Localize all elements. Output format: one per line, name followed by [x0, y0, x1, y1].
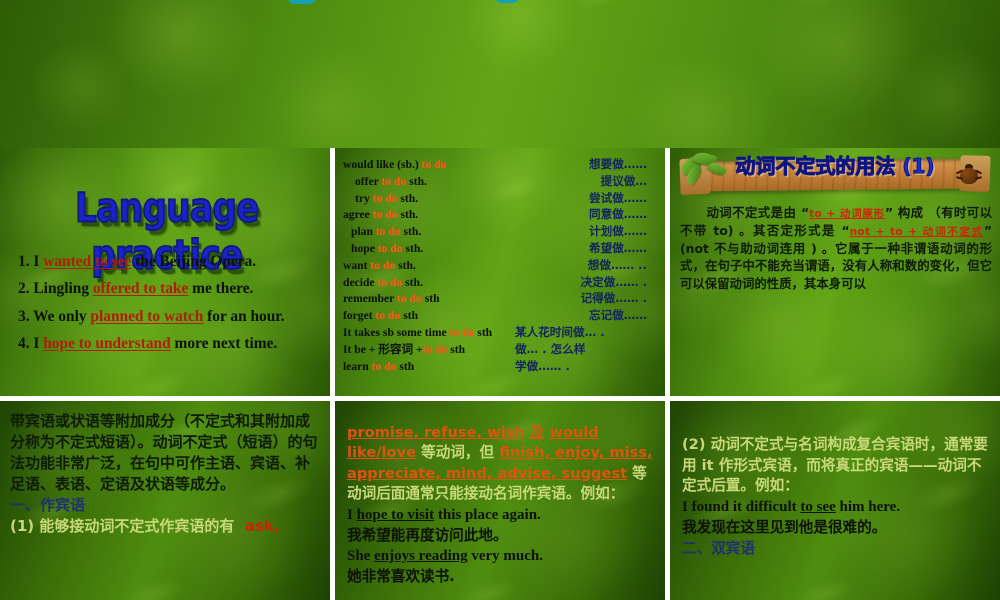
- example-1-before: I: [347, 507, 357, 523]
- pattern-infinitive: to do: [382, 175, 407, 188]
- example-1-after: this place again.: [434, 507, 541, 523]
- table-row: would like (sb.) to do想要做……: [343, 156, 659, 173]
- pattern-suffix: sth.: [403, 242, 424, 255]
- slide-formal-object-it[interactable]: (2) 动词不定式与名词构成复合宾语时，通常要用 it 作形式宾语，而将真正的宾…: [670, 401, 1000, 600]
- pattern-suffix: sth.: [402, 276, 423, 289]
- table-row: decide to do sth.决定做…… .: [343, 274, 659, 291]
- pattern-suffix: sth.: [395, 259, 416, 272]
- item-highlight: hope to understand: [43, 335, 170, 352]
- table-row: want to do sth.想做…… ..: [343, 257, 659, 274]
- verb-pattern-chinese: 计划做……: [523, 223, 659, 239]
- item-number: 3.: [18, 308, 30, 325]
- item-number: 4.: [18, 335, 30, 352]
- pattern-suffix: sth: [422, 292, 440, 305]
- pattern-infinitive: to do: [376, 309, 401, 322]
- slide-infinitive-vs-gerund[interactable]: promise, refuse, wish 及 would like/love …: [335, 401, 665, 600]
- table-row: It takes sb some time to do sth某人花时间做… .: [343, 324, 659, 341]
- slide-infinitive-definition[interactable]: 动词不定式的用法 (1) 动词不定式是由 “to + 动词原形” 构成 （有时可…: [670, 148, 1000, 396]
- example-2-before: She: [347, 548, 374, 564]
- table-row: agree to do sth.同意做……: [343, 206, 659, 223]
- pattern-prefix: try: [355, 192, 373, 205]
- verb-pattern-chinese: 某人花时间做… .: [515, 324, 659, 340]
- banner-background-leaves: [0, 0, 1000, 148]
- table-row: forget to do sth忘记做……: [343, 307, 659, 324]
- pattern-suffix: sth.: [406, 175, 427, 188]
- slide-language-practice[interactable]: Language practice 1. I wanted to see the…: [0, 148, 330, 396]
- verb-pattern-chinese: 学做…… .: [515, 358, 659, 374]
- item-highlight: planned to watch: [90, 308, 203, 325]
- section-heading: 二、双宾语: [682, 540, 755, 557]
- table-row: It be + 形容词 +to do sth做… . 怎么样: [343, 341, 659, 358]
- pattern-infinitive: to do: [373, 208, 398, 221]
- pattern-suffix: sth.: [401, 225, 422, 238]
- verb-pattern-chinese: 同意做……: [515, 206, 659, 222]
- verb-pattern-chinese: 想要做……: [515, 156, 659, 172]
- list-item: 2. Lingling offered to take me there.: [18, 280, 318, 298]
- item-text-before: Lingling: [33, 280, 92, 297]
- wooden-plank-banner: 动词不定式的用法 (1): [676, 152, 994, 194]
- example-2-after: very much.: [468, 548, 543, 564]
- item-text-after: me there.: [188, 280, 253, 297]
- example-after: him here.: [836, 499, 900, 515]
- gerund-body: promise, refuse, wish 及 would like/love …: [347, 423, 655, 588]
- verb-pattern-english: want to do sth.: [343, 259, 515, 272]
- pattern-prefix: remember: [343, 292, 397, 305]
- verb-pattern-chinese: 尝试做……: [527, 190, 659, 206]
- verb-joiner: 及: [530, 424, 545, 441]
- pattern-infinitive: to do: [397, 292, 422, 305]
- definition-formula-2: not + to + 动词不定式: [850, 226, 984, 238]
- pattern-infinitive: to do: [422, 158, 447, 171]
- item-text-after: for an hour.: [203, 308, 284, 325]
- slide-grid: Language practice 1. I wanted to see the…: [0, 148, 1000, 600]
- verb-pattern-table: would like (sb.) to do想要做……offer to do s…: [343, 156, 659, 374]
- verb-pattern-english: It be + 形容词 +to do sth: [343, 341, 515, 357]
- item-label: (2): [682, 436, 706, 453]
- sub-item-text: 能够接动词不定式作宾语的有: [39, 517, 234, 535]
- item-text-after: more next time.: [171, 335, 278, 352]
- verb-pattern-english: plan to do sth.: [343, 225, 523, 238]
- pattern-prefix: It be + 形容词 +: [343, 343, 423, 356]
- pattern-infinitive: to do: [378, 242, 403, 255]
- table-row: hope to do sth.希望做……: [343, 240, 659, 257]
- example-2-translation: 她非常喜欢读书.: [347, 568, 455, 585]
- pattern-prefix: It takes sb some time: [343, 326, 450, 339]
- verb-pattern-english: decide to do sth.: [343, 276, 515, 289]
- functions-paragraph: 带宾语或状语等附加成分（不定式和其附加成分称为不定式短语）。动词不定式（短语）的…: [10, 412, 318, 493]
- pattern-prefix: agree: [343, 208, 373, 221]
- connector-text-1: 等动词，但: [421, 444, 494, 461]
- pattern-suffix: sth.: [398, 192, 419, 205]
- slide-handout-page: Language practice 1. I wanted to see the…: [0, 0, 1000, 600]
- example-translation: 我发现在这里见到他是很难的。: [682, 519, 886, 536]
- example-2-highlight: enjoys reading: [374, 548, 467, 564]
- pattern-prefix: hope: [351, 242, 378, 255]
- pattern-prefix: forget: [343, 309, 376, 322]
- slide-verb-pattern-table[interactable]: would like (sb.) to do想要做……offer to do s…: [335, 148, 665, 396]
- table-row: plan to do sth.计划做……: [343, 223, 659, 240]
- item-highlight: offered to take: [93, 280, 188, 297]
- verb-pattern-chinese: 想做…… ..: [515, 257, 659, 273]
- table-row: remember to do sth记得做…… .: [343, 290, 659, 307]
- item-text-before: We only: [33, 308, 90, 325]
- verb-pattern-chinese: 忘记做……: [515, 307, 659, 323]
- pattern-infinitive: to do: [450, 326, 475, 339]
- pattern-infinitive: to do: [373, 192, 398, 205]
- example-1-highlight: hope to visit: [357, 507, 435, 523]
- functions-body: 带宾语或状语等附加成分（不定式和其附加成分称为不定式短语）。动词不定式（短语）的…: [10, 411, 322, 537]
- pattern-prefix: learn: [343, 360, 372, 373]
- pattern-suffix: sth: [396, 360, 414, 373]
- pattern-infinitive: to do: [372, 360, 397, 373]
- verb-pattern-english: learn to do sth: [343, 360, 515, 373]
- table-row: try to do sth.尝试做……: [343, 190, 659, 207]
- item-number: 1.: [18, 253, 30, 270]
- item-number: 2.: [18, 280, 30, 297]
- verb-pattern-english: hope to do sth.: [343, 242, 523, 255]
- example-highlight: to see: [800, 499, 835, 515]
- item-text-before: I: [33, 335, 43, 352]
- item-highlight: wanted to see: [43, 253, 131, 270]
- pattern-prefix: want: [343, 259, 370, 272]
- verb-pattern-chinese: 决定做…… .: [515, 274, 659, 290]
- verb-pattern-english: offer to do sth.: [343, 175, 527, 188]
- formal-object-paragraph: 动词不定式与名词构成复合宾语时，通常要用 it 作形式宾语，而将真正的宾语——动…: [682, 436, 988, 494]
- table-row: learn to do sth学做…… .: [343, 358, 659, 375]
- formal-object-body: (2) 动词不定式与名词构成复合宾语时，通常要用 it 作形式宾语，而将真正的宾…: [682, 435, 990, 560]
- item-text-after: the Beijing Opera.: [131, 253, 256, 270]
- verb-pattern-chinese: 提议做…: [527, 173, 659, 189]
- verb-pattern-chinese: 做… . 怎么样: [515, 341, 659, 357]
- pattern-infinitive: to do: [376, 225, 401, 238]
- pattern-infinitive: to do: [423, 343, 448, 356]
- pattern-prefix: plan: [351, 225, 376, 238]
- verb-pattern-english: agree to do sth.: [343, 208, 515, 221]
- sub-item-verbs: ask,: [245, 517, 280, 535]
- definition-formula-1: to + 动词原形: [809, 208, 885, 220]
- pattern-suffix: sth: [400, 309, 418, 322]
- pattern-suffix: sth.: [398, 208, 419, 221]
- pattern-prefix: would like (sb.): [343, 158, 422, 171]
- section-heading: 一、作宾语: [10, 496, 85, 514]
- sentence-list: 1. I wanted to see the Beijing Opera. 2.…: [18, 253, 318, 363]
- definition-text-1: 动词不定式是由 “: [706, 205, 809, 220]
- verb-pattern-english: forget to do sth: [343, 309, 515, 322]
- table-row: offer to do sth.提议做…: [343, 173, 659, 190]
- verb-pattern-english: remember to do sth: [343, 292, 515, 305]
- list-item: 4. I hope to understand more next time.: [18, 335, 318, 353]
- slide-banner-title: 动词不定式的用法 (1): [676, 150, 994, 179]
- verb-pattern-english: It takes sb some time to do sth: [343, 326, 515, 339]
- verb-pattern-english: would like (sb.) to do: [343, 158, 515, 171]
- sub-item-label: (1): [10, 517, 34, 535]
- verb-pattern-chinese: 记得做…… .: [515, 290, 659, 306]
- slide-infinitive-functions[interactable]: 带宾语或状语等附加成分（不定式和其附加成分称为不定式短语）。动词不定式（短语）的…: [0, 401, 330, 600]
- example-1-translation: 我希望能再度访问此地。: [347, 527, 508, 544]
- item-text-before: I: [33, 253, 43, 270]
- pattern-infinitive: to do: [370, 259, 395, 272]
- pattern-prefix: offer: [355, 175, 382, 188]
- list-item: 1. I wanted to see the Beijing Opera.: [18, 253, 318, 271]
- list-item: 3. We only planned to watch for an hour.: [18, 308, 318, 326]
- header-banner: [0, 0, 1000, 148]
- pattern-infinitive: to do: [377, 276, 402, 289]
- example-before: I found it difficult: [682, 499, 800, 515]
- pattern-suffix: sth: [474, 326, 492, 339]
- definition-paragraph: 动词不定式是由 “to + 动词原形” 构成 （有时可以不带 to) 。其否定形…: [680, 204, 992, 293]
- pattern-suffix: sth: [447, 343, 465, 356]
- verb-pattern-chinese: 希望做……: [523, 240, 659, 256]
- verb-pattern-english: try to do sth.: [343, 192, 527, 205]
- pattern-prefix: decide: [343, 276, 377, 289]
- verb-group-1: promise, refuse, wish: [347, 424, 525, 441]
